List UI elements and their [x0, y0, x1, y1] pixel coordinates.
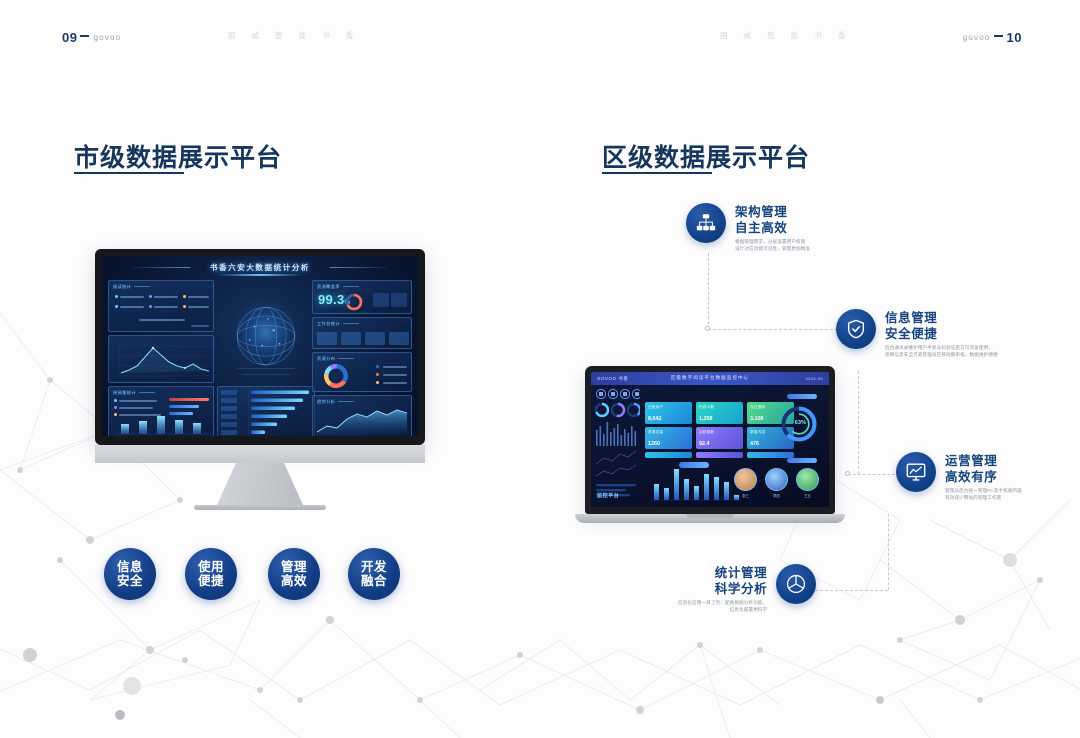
feature-title-line2: 高效有序: [945, 469, 1022, 485]
brand-left: govoo: [93, 33, 121, 42]
panel-resource-distribution: 资源分布: [312, 352, 412, 392]
laptop-title: 区级数字阅读平台数据监控中心: [591, 375, 829, 381]
feature-icon-wrap: [836, 309, 876, 349]
panel-trend-label: 趋势分析: [317, 399, 354, 405]
feature-title-line1: 架构管理: [735, 204, 810, 220]
feature-desc-line1: 信息化应用一目了然，配备数据分析功能，: [678, 600, 767, 607]
feature-icon-wrap: [896, 452, 936, 492]
pie-chart-icon: [785, 573, 807, 595]
laptop-topbar: GOVOO 书香 区级数字阅读平台数据监控中心 2024-05: [591, 372, 829, 385]
badge-line2: 安全: [117, 574, 143, 588]
monitor-base: [194, 505, 326, 510]
monitor-neck: [95, 445, 425, 463]
badge-line1: 开发: [361, 560, 387, 574]
badge-line1: 信息: [117, 560, 143, 574]
feature-title-line1: 运营管理: [945, 453, 1022, 469]
monitor-screen: 书香六安大数据统计分析: [102, 256, 418, 436]
badge-development-integration[interactable]: 开发 融合: [348, 548, 400, 600]
panel-worktable: 工作台统计: [312, 317, 412, 349]
connector-node-2: [845, 471, 850, 476]
brand-right: govoo: [963, 33, 991, 42]
laptop-gauge-title-pill: [787, 394, 817, 399]
connector-vertical-2: [858, 371, 859, 474]
feature-text: 信息管理 安全便捷 后台通讯录维护用户手机号码验证后方可浏览使用， 保障信息安全…: [885, 309, 998, 359]
org-chart-icon: [695, 212, 717, 234]
desktop-monitor: 书香六安大数据统计分析: [95, 249, 425, 510]
tile-value: 92.4: [699, 441, 710, 447]
badge-management-efficiency[interactable]: 管理 高效: [268, 548, 320, 600]
avatar-user-3-name: 王五: [796, 493, 819, 498]
feature-desc-line1: 后台通讯录维护用户手机号码验证后方可浏览使用，: [885, 345, 998, 352]
feature-icon-wrap: [776, 564, 816, 604]
connector-node-1: [705, 326, 710, 331]
panel-trend-area: 趋势分析: [312, 395, 412, 436]
feature-text: 统计管理 科学分析 信息化应用一目了然，配备数据分析功能， 信息化部署更科学: [678, 564, 767, 614]
tile-activity-index[interactable]: 活跃指数 92.4: [696, 427, 743, 449]
header-mid-right-text: 国 威 智 能 书 香: [720, 30, 852, 41]
monitor-bezel: 书香六安大数据统计分析: [95, 249, 425, 445]
badge-line2: 融合: [361, 574, 387, 588]
panel-hot-book-rank: [217, 386, 315, 436]
dashboard-title: 书香六安大数据统计分析: [102, 262, 418, 273]
panel-coverage-label: 资源覆盖率: [317, 284, 359, 290]
panel-borrow-stats-label: 借阅量统计: [113, 390, 155, 396]
badge-line2: 便捷: [198, 574, 224, 588]
laptop-screen: GOVOO 书香 区级数字阅读平台数据监控中心 2024-05: [591, 372, 829, 507]
monitor-stand: [95, 463, 425, 505]
badge-ease-of-use[interactable]: 使用 便捷: [185, 548, 237, 600]
badge-line2: 高效: [281, 574, 307, 588]
feature-title-line2: 自主高效: [735, 220, 810, 236]
section-title-city-rule: [74, 172, 184, 174]
feature-title-line1: 信息管理: [885, 310, 998, 326]
tile-value: 1260: [648, 441, 660, 447]
monitor-chart-icon: [905, 461, 927, 483]
feature-desc-line2: 信息化部署更科学: [678, 607, 767, 614]
tile-label: 新增内容: [750, 430, 765, 435]
laptop-left-rail: [594, 388, 640, 507]
header-left: 09 govoo: [62, 28, 121, 46]
laptop-lid: GOVOO 书香 区级数字阅读平台数据监控中心 2024-05: [585, 366, 835, 514]
feature-title-line2: 科学分析: [678, 581, 767, 597]
horizontal-bar-chart: [218, 387, 315, 436]
tile-label: 在线人数: [699, 405, 714, 410]
globe-visual: [218, 290, 314, 386]
feature-desc-line2: 保障信息安全可靠管理员在移动端审核，数据维护便捷: [885, 352, 998, 359]
connector-vertical-1: [708, 253, 709, 329]
tile-strip-1: [645, 452, 692, 458]
panel-borrow-stats: 借阅量统计: [108, 386, 214, 436]
shield-check-icon: [845, 318, 867, 340]
laptop-platform-label: 监控平台: [597, 492, 619, 499]
page-number-dash-right: [994, 35, 1003, 37]
laptop-gauge-value: 63%: [795, 420, 806, 426]
feature-text: 架构管理 自主高效 根据管理需求，分层设置用户权限 设计对应功能可见性，管理更加…: [735, 203, 810, 253]
badge-information-security[interactable]: 信息 安全: [104, 548, 156, 600]
page-number-left: 09: [62, 30, 77, 45]
feature-text: 运营管理 高效有序 管理员后台统一管理PC及手机端内容 有效减少网站的管理工作量: [945, 452, 1022, 502]
tile-label: 注册用户: [648, 405, 663, 410]
page-number-right: 10: [1007, 30, 1022, 45]
panel-coverage-rate: 资源覆盖率 99.3%: [312, 280, 412, 314]
tile-resource-total[interactable]: 资源总量 1260: [645, 427, 692, 449]
tile-strip-3: [747, 452, 794, 458]
badge-line1: 使用: [198, 560, 224, 574]
area-chart: [313, 406, 412, 436]
laptop-topbar-meta: 2024-05: [806, 376, 823, 381]
feature-information-management[interactable]: 信息管理 安全便捷 后台通讯录维护用户手机号码验证后方可浏览使用， 保障信息安全…: [836, 309, 998, 359]
feature-desc-line2: 有效减少网站的管理工作量: [945, 495, 1022, 502]
tile-value: 476: [750, 441, 759, 447]
tile-label: 今日借阅: [750, 405, 765, 410]
feature-statistics-management[interactable]: 统计管理 科学分析 信息化应用一目了然，配备数据分析功能， 信息化部署更科学: [678, 564, 816, 614]
avatar-user-3[interactable]: [796, 468, 819, 491]
coverage-donut-icon: [341, 292, 367, 312]
feature-desc-line1: 根据管理需求，分层设置用户权限: [735, 239, 810, 246]
section-title-city: 市级数据展示平台: [74, 138, 282, 174]
feature-architecture-management[interactable]: 架构管理 自主高效 根据管理需求，分层设置用户权限 设计对应功能可见性，管理更加…: [686, 203, 810, 253]
panel-worktable-label: 工作台统计: [317, 321, 359, 327]
tile-label: 资源总量: [648, 430, 663, 435]
laptop-bar-chart-title-pill: [679, 462, 709, 468]
header-mid-left-text: 国 威 智 能 书 香: [228, 30, 360, 41]
laptop-device: GOVOO 书香 区级数字阅读平台数据监控中心 2024-05: [575, 366, 845, 523]
tile-value: 3,106: [750, 416, 764, 422]
connector-horizontal-1: [708, 329, 848, 330]
connector-vertical-3: [888, 514, 889, 590]
feature-icon-wrap: [686, 203, 726, 243]
tile-registered-users[interactable]: 注册用户 8,642: [645, 402, 692, 424]
tile-label: 活跃指数: [699, 430, 714, 435]
page-number-dash: [80, 35, 89, 37]
tile-value: 1,258: [699, 416, 713, 422]
panel-user-activity-line: [108, 335, 214, 383]
tile-online-count[interactable]: 在线人数 1,258: [696, 402, 743, 424]
dashboard-title-underline: [217, 274, 303, 276]
avatar-user-2-name: 李四: [765, 493, 788, 498]
panel-reading-stats-label: 阅读统计: [113, 284, 150, 290]
feature-desc-line2: 设计对应功能可见性，管理更加精准: [735, 246, 810, 253]
badge-line1: 管理: [281, 560, 307, 574]
feature-title-line1: 统计管理: [678, 565, 767, 581]
feature-desc-line1: 管理员后台统一管理PC及手机端内容: [945, 488, 1022, 495]
donut-chart: [321, 361, 351, 391]
line-chart: [109, 336, 214, 383]
section-title-district: 区级数据展示平台: [602, 138, 810, 174]
page-root: 09 govoo 国 威 智 能 书 香 国 威 智 能 书 香 govoo 1…: [0, 0, 1080, 738]
laptop-avatars-title-pill: [787, 458, 817, 463]
tile-value: 8,642: [648, 416, 662, 422]
laptop-base: [575, 514, 845, 523]
avatar-user-2[interactable]: [765, 468, 788, 491]
feature-operation-management[interactable]: 运营管理 高效有序 管理员后台统一管理PC及手机端内容 有效减少网站的管理工作量: [896, 452, 1022, 502]
tile-strip-2: [696, 452, 743, 458]
section-title-district-rule: [602, 172, 712, 174]
panel-reading-stats: 阅读统计: [108, 280, 214, 332]
avatar-user-1[interactable]: [734, 468, 757, 491]
header-right: govoo 10: [963, 28, 1022, 46]
laptop-bar-chart: [646, 464, 742, 506]
feature-title-line2: 安全便捷: [885, 326, 998, 342]
avatar-user-1-name: 张三: [734, 493, 757, 498]
bar-chart-borrow: [109, 414, 214, 436]
laptop-trackpad-notch: [686, 514, 734, 518]
